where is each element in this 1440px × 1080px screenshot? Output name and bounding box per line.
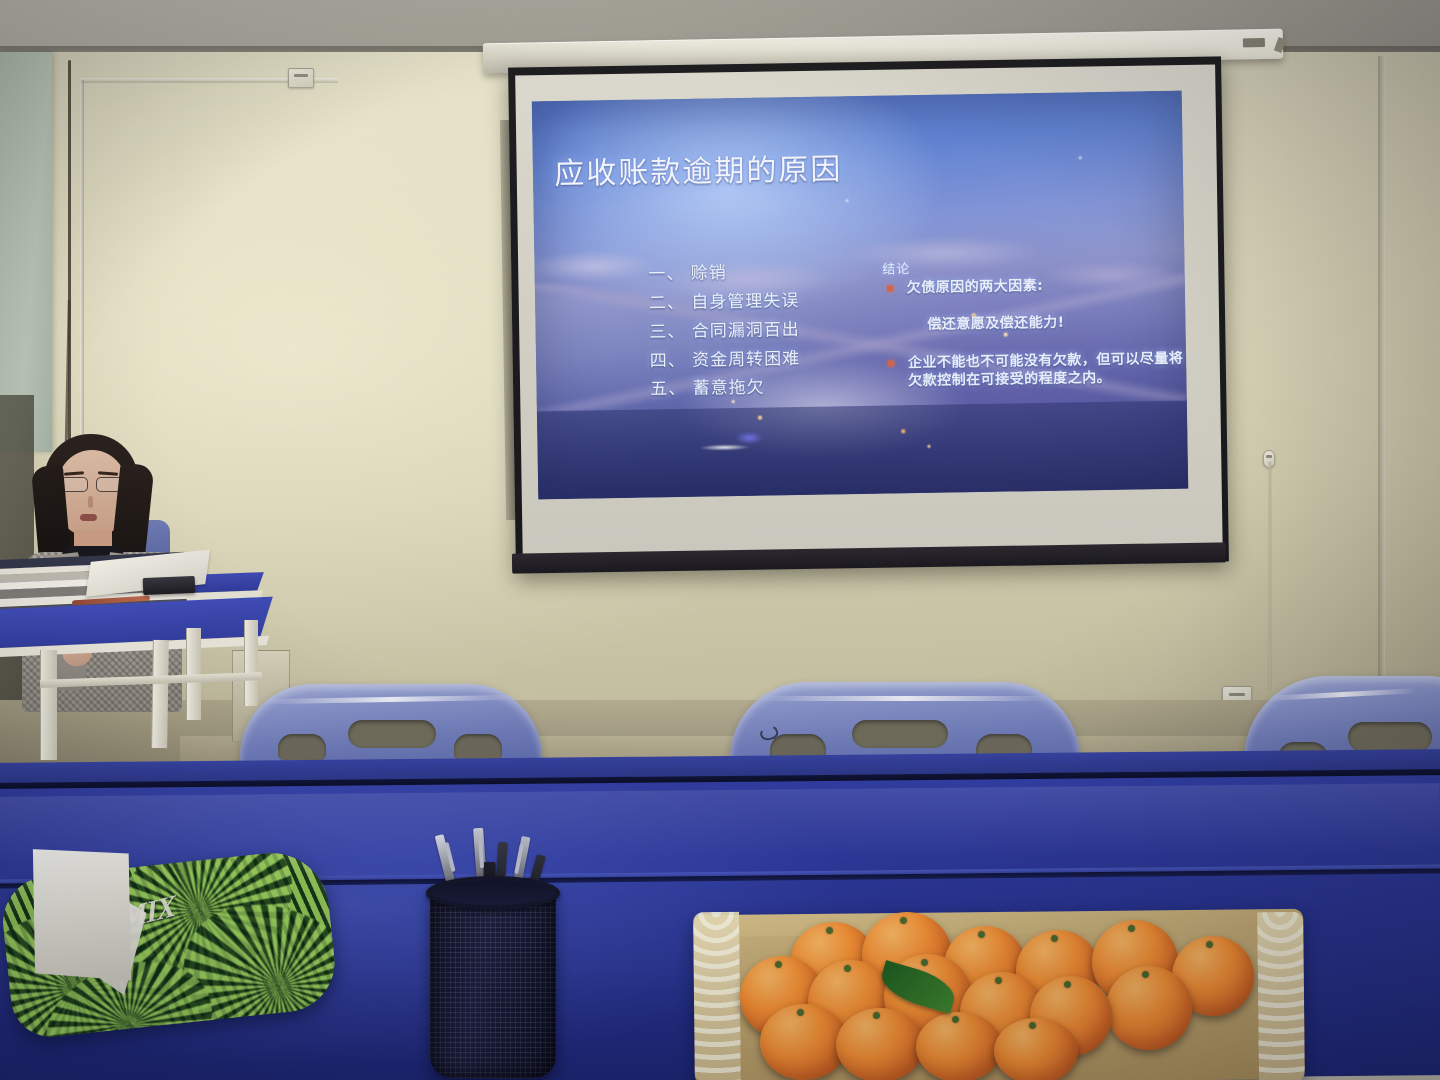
slide-star: [845, 200, 848, 203]
palm-leaf-tissue-packet: MIX: [6, 838, 336, 1048]
slide-list-item-4: 四、 资金周转困难: [650, 346, 862, 374]
slide-right-column: 结论 欠债原因的两大因素: 偿还意愿及偿还能力! 企业不能也不可能没有欠款，但可…: [859, 254, 1188, 490]
chair-highlight: [760, 696, 1050, 701]
slide-conclusion-bullet-2-text: 企业不能也不可能没有欠款，但可以尽量将欠款控制在可接受的程度之内。: [908, 350, 1184, 389]
slide-star: [1079, 156, 1082, 159]
mandarin-orange: [836, 1008, 924, 1080]
dark-desk-object: [143, 576, 196, 595]
roller-end-cap: [1243, 38, 1265, 47]
chair-center-cutout: [348, 720, 436, 748]
pen-holder-rim: [426, 876, 560, 910]
desk-leg: [40, 650, 57, 760]
slide-list-item-3: 三、 合同漏洞百出: [649, 317, 861, 345]
desk-leg: [151, 640, 169, 748]
slide-conclusion-bullet-2: 企业不能也不可能没有欠款，但可以尽量将欠款控制在可接受的程度之内。: [884, 349, 1187, 391]
slide-conclusion-bullet-1: 欠债原因的两大因素:: [883, 275, 1186, 298]
pen-holder-cup: [430, 888, 556, 1078]
slide-list-item-2: 二、 自身管理失误: [649, 288, 861, 316]
nose: [88, 496, 93, 508]
slide-list-item-5: 五、 蓄意拖欠: [650, 374, 862, 402]
slide-title: 应收账款逾期的原因: [554, 144, 843, 193]
slide-list-item-1: 一、 赊销: [648, 259, 860, 287]
pulled-tissue: [24, 829, 144, 997]
bullet-marker-icon: [887, 286, 893, 292]
slide-body: 一、 赊销 二、 自身管理失误 三、 合同漏洞百出 四、 资金周转困难 五、 蓄…: [534, 254, 1188, 496]
chair-side-cutout: [454, 734, 502, 760]
mouth: [80, 514, 97, 521]
chair-side-cutout: [278, 734, 326, 760]
projected-slide: 应收账款逾期的原因 一、 赊销 二、 自身管理失误 三、 合同漏洞百出 四、 资…: [532, 91, 1189, 500]
chair-center-cutout: [1348, 722, 1432, 752]
slide-conclusion-bullet-1-text: 欠债原因的两大因素:: [907, 278, 1044, 296]
bullet-marker-icon: [888, 360, 894, 366]
mandarin-orange: [994, 1018, 1078, 1080]
slide-conclusion-subtext: 偿还意愿及偿还能力!: [927, 309, 1186, 333]
slide-left-column: 一、 赊销 二、 自身管理失误 三、 合同漏洞百出 四、 资金周转困难 五、 蓄…: [534, 259, 863, 495]
mandarin-orange: [916, 1012, 1002, 1080]
mandarin-orange: [1106, 966, 1192, 1050]
slide-conclusion-heading: 结论: [882, 254, 1185, 278]
chair-center-cutout: [852, 720, 948, 748]
tray-lace-edge-right: [1257, 912, 1305, 1080]
black-mesh-pen-holder: [418, 828, 568, 1080]
mandarin-orange: [760, 1004, 848, 1080]
eyeglasses-icon: [58, 477, 126, 491]
tray-lace-edge-left: [693, 912, 741, 1080]
photo-scene: 应收账款逾期的原因 一、 赊销 二、 自身管理失误 三、 合同漏洞百出 四、 资…: [0, 0, 1440, 1080]
